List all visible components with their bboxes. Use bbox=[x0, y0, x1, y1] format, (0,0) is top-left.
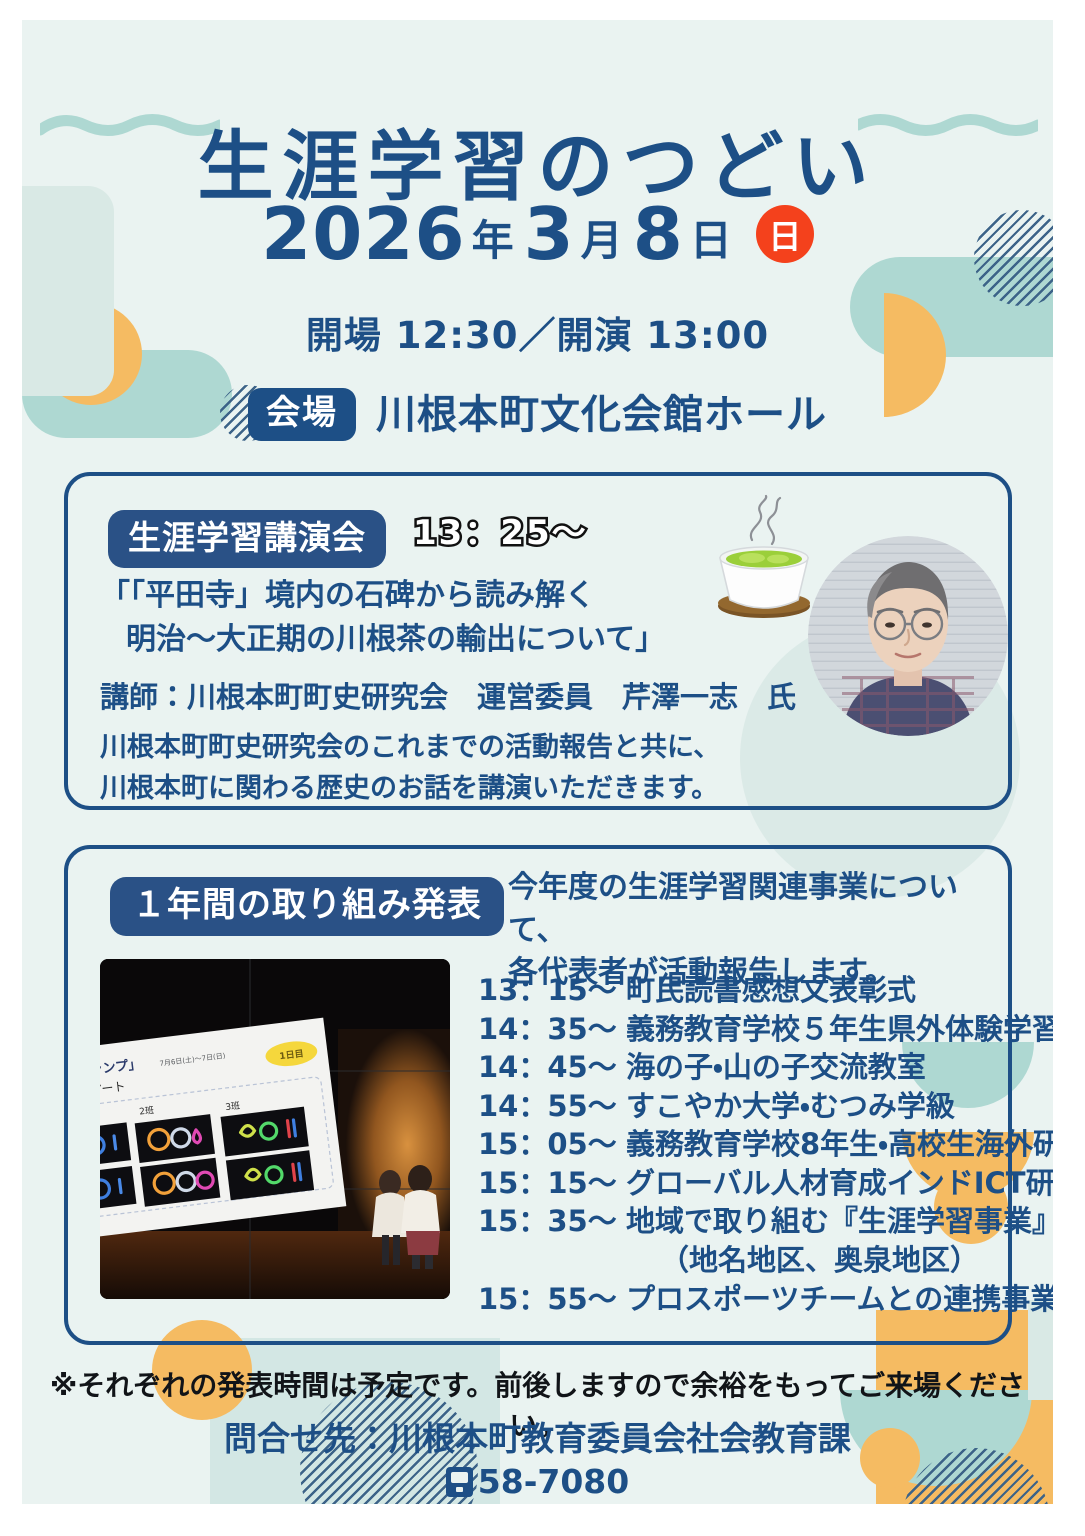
venue-name: 川根本町文化会館ホール bbox=[376, 395, 827, 435]
schedule-time: 14：45〜 bbox=[478, 1048, 626, 1087]
lecture-title-line2: 明治〜大正期の川根茶の輸出について」 bbox=[100, 618, 740, 662]
venue-row: 会場 川根本町文化会館ホール bbox=[22, 388, 1053, 441]
schedule-time: 14：55〜 bbox=[478, 1087, 626, 1126]
schedule-row: 15：15〜 グローバル人材育成インドICT研修 bbox=[478, 1164, 1053, 1203]
schedule-label: 海の子・山の子交流教室 bbox=[626, 1048, 926, 1087]
date-day-unit: 日 bbox=[690, 220, 732, 262]
reports-section-tag: １年間の取り組み発表 bbox=[110, 877, 504, 936]
lecture-title-line1: 「「平田寺」境内の石碑から読み解く bbox=[100, 578, 595, 613]
schedule-row: 13：15〜 町民読書感想文表彰式 bbox=[478, 971, 1053, 1010]
lecture-start-time: 13：25〜 bbox=[413, 516, 588, 550]
contact-block: 問合せ先：川根本町教育委員会社会教育課 58-7080 bbox=[22, 1418, 1053, 1504]
schedule-row: 15：35〜 地域で取り組む『生涯学習事業』 bbox=[478, 1202, 1053, 1241]
lecture-card: 生涯学習講演会 13：25〜 bbox=[64, 472, 1012, 810]
date-month-unit: 月 bbox=[581, 220, 623, 262]
schedule-label: 義務教育学校５年生県外体験学習 bbox=[626, 1010, 1053, 1049]
schedule-row: 14：55〜 すこやか大学・むつみ学級 bbox=[478, 1087, 1053, 1126]
speaker-portrait-photo bbox=[808, 536, 1008, 736]
lecture-title: 「「平田寺」境内の石碑から読み解く 明治〜大正期の川根茶の輸出について」 bbox=[100, 574, 740, 661]
lecture-speaker: 講師：川根本町町史研究会 運営委員 芹澤一志 氏 bbox=[100, 674, 796, 716]
date-day: 8 bbox=[633, 198, 684, 270]
contact-office: 問合せ先：川根本町教育委員会社会教育課 bbox=[22, 1418, 1053, 1461]
schedule-time: 13：15〜 bbox=[478, 971, 626, 1010]
telephone-icon bbox=[446, 1467, 473, 1497]
schedule-time: 15：15〜 bbox=[478, 1164, 626, 1203]
poster-canvas: 生涯学習のつどい 2026 年 3 月 8 日 日 開場 12:30／開演 13… bbox=[22, 20, 1053, 1504]
stage-presentation-photo: 〜キャンプ」 7月6日(土)〜7日(日) イトアート 1日目 2班 3班 bbox=[100, 959, 450, 1299]
schedule-sublabel: （地名地区、奥泉地区） bbox=[478, 1241, 1053, 1280]
schedule-time: 15：55〜 bbox=[478, 1280, 626, 1319]
date-year-unit: 年 bbox=[472, 220, 514, 262]
date-month: 3 bbox=[524, 198, 575, 270]
schedule-row: 15：55〜 プロスポーツチームとの連携事業 bbox=[478, 1280, 1053, 1319]
schedule-row: 14：45〜 海の子・山の子交流教室 bbox=[478, 1048, 1053, 1087]
schedule-row: 15：05〜 義務教育学校8年生・高校生海外研修 bbox=[478, 1125, 1053, 1164]
weekday-badge: 日 bbox=[756, 205, 814, 263]
open-start-times: 開場 12:30／開演 13:00 bbox=[22, 305, 1053, 359]
venue-tag: 会場 bbox=[248, 388, 356, 441]
lecture-section-tag: 生涯学習講演会 bbox=[108, 510, 386, 568]
schedule-label: 地域で取り組む『生涯学習事業』 bbox=[626, 1202, 1053, 1241]
reports-intro-line1: 今年度の生涯学習関連事業について、 bbox=[508, 867, 1008, 952]
schedule-label: 義務教育学校8年生・高校生海外研修 bbox=[626, 1125, 1053, 1164]
event-date: 2026 年 3 月 8 日 日 bbox=[22, 198, 1053, 270]
lecture-description: 川根本町町史研究会のこれまでの活動報告と共に、 川根本町に関わる歴史のお話を講演… bbox=[100, 728, 720, 809]
date-year: 2026 bbox=[261, 198, 465, 270]
lecture-description-line1: 川根本町町史研究会のこれまでの活動報告と共に、 bbox=[100, 728, 720, 769]
lecture-description-line2: 川根本町に関わる歴史のお話を講演いただきます。 bbox=[100, 769, 720, 810]
contact-phone-number: 58-7080 bbox=[478, 1461, 629, 1504]
schedule-time: 15：35〜 bbox=[478, 1202, 626, 1241]
schedule-time: 14：35〜 bbox=[478, 1010, 626, 1049]
schedule-time: 15：05〜 bbox=[478, 1125, 626, 1164]
schedule-row: 14：35〜 義務教育学校５年生県外体験学習 bbox=[478, 1010, 1053, 1049]
contact-phone-line: 58-7080 bbox=[22, 1461, 1053, 1504]
schedule-label: すこやか大学・むつみ学級 bbox=[626, 1087, 955, 1126]
schedule-label: グローバル人材育成インドICT研修 bbox=[626, 1164, 1053, 1203]
schedule-label: 町民読書感想文表彰式 bbox=[626, 971, 916, 1010]
schedule-label: プロスポーツチームとの連携事業 bbox=[626, 1280, 1053, 1319]
schedule-list: 13：15〜 町民読書感想文表彰式 14：35〜 義務教育学校５年生県外体験学習… bbox=[478, 971, 1053, 1318]
reports-card: １年間の取り組み発表 今年度の生涯学習関連事業について、 各代表者が活動報告しま… bbox=[64, 845, 1012, 1345]
